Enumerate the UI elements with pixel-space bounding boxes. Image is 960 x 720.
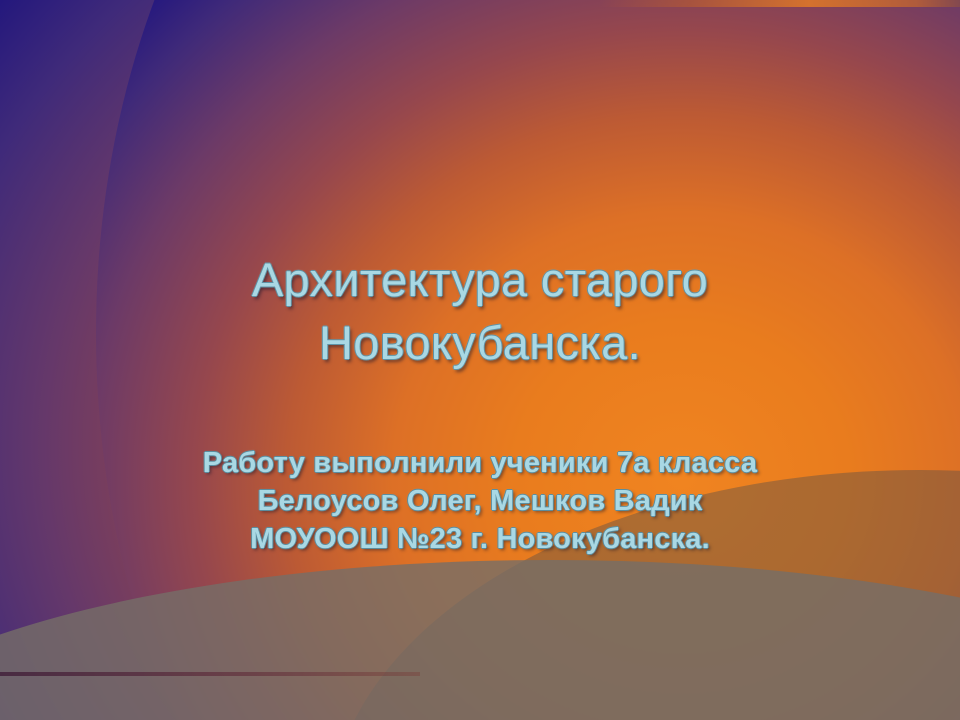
subtitle-line-3: МОУООШ №23 г. Новокубанска. (0, 520, 960, 558)
title-slide: Архитектура старого Новокубанска. Работу… (0, 0, 960, 720)
slide-content: Архитектура старого Новокубанска. Работу… (0, 0, 960, 720)
title-line-1: Архитектура старого (0, 248, 960, 311)
slide-subtitle: Работу выполнили ученики 7а класса Белоу… (0, 444, 960, 558)
subtitle-line-1: Работу выполнили ученики 7а класса (0, 444, 960, 482)
title-line-2: Новокубанска. (0, 311, 960, 374)
page-title: Архитектура старого Новокубанска. (0, 248, 960, 374)
subtitle-line-2: Белоусов Олег, Мешков Вадик (0, 482, 960, 520)
